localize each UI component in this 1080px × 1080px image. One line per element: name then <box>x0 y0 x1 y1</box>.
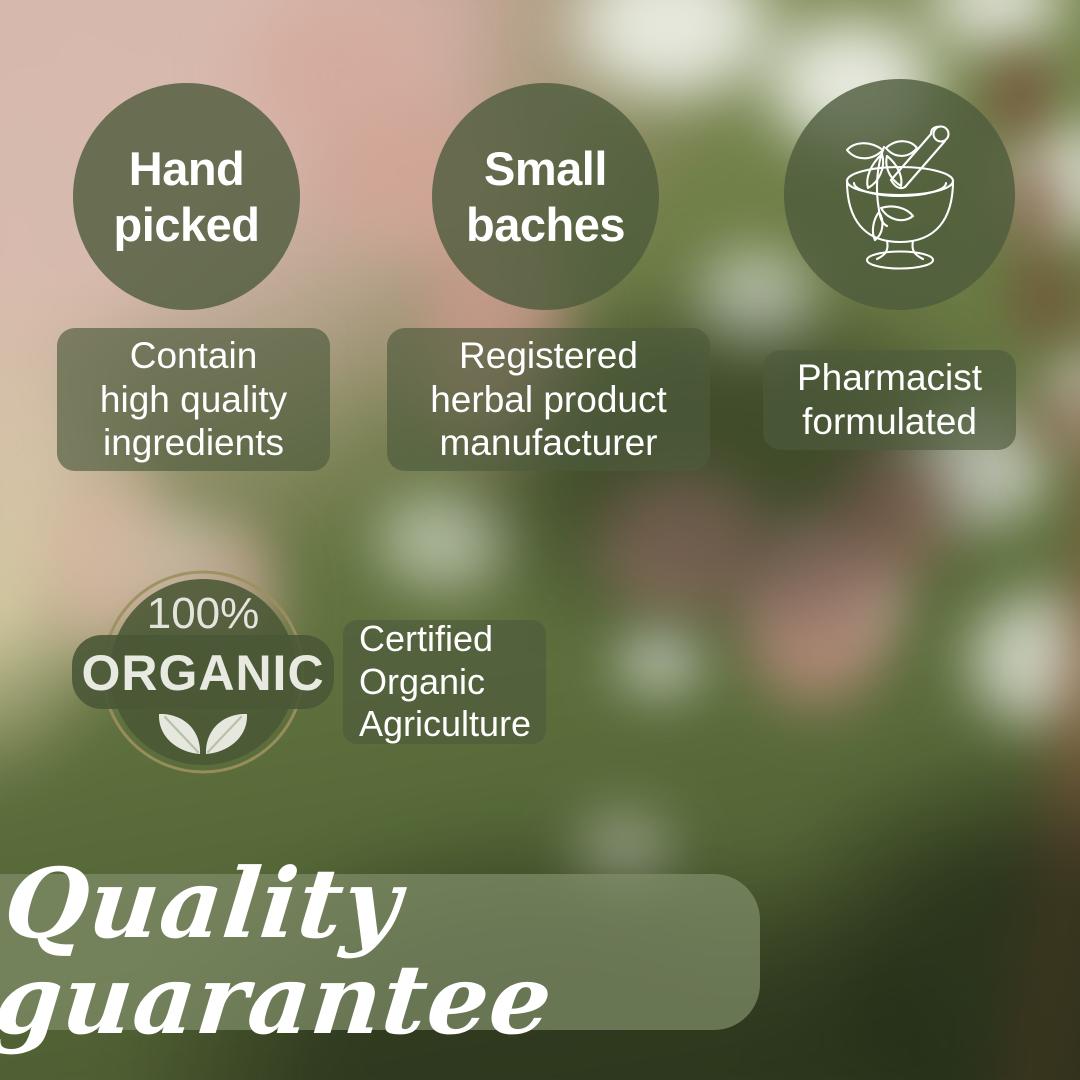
circle-label-small-baches: Small baches <box>466 141 625 252</box>
chip-text: Contain high quality ingredients <box>100 334 287 465</box>
circle-badge-small-baches: Small baches <box>432 83 659 310</box>
circle-badge-mortar-pestle <box>784 79 1015 310</box>
chip-text: Registered herbal product manufacturer <box>430 334 667 465</box>
quality-guarantee-headline: Quality guarantee <box>0 856 770 1048</box>
chip-certified-organic-agriculture: Certified Organic Agriculture <box>343 620 546 744</box>
quality-guarantee-banner: Quality guarantee <box>0 874 760 1030</box>
chip-text: Pharmacist formulated <box>797 356 982 443</box>
organic-percent-text: 100% <box>147 589 260 638</box>
chip-contain-high-quality-ingredients: Contain high quality ingredients <box>57 328 330 471</box>
circle-badge-hand-picked: Hand picked <box>73 83 300 310</box>
organic-word-text: ORGANIC <box>81 645 324 701</box>
quality-guarantee-poster: Hand picked Small baches <box>0 0 1080 1080</box>
chip-pharmacist-formulated: Pharmacist formulated <box>763 350 1016 450</box>
chip-text: Certified Organic Agriculture <box>359 618 531 745</box>
circle-label-hand-picked: Hand picked <box>114 141 260 252</box>
organic-seal-badge: 100% ORGANIC <box>72 566 334 778</box>
mortar-pestle-icon <box>821 120 979 270</box>
chip-registered-herbal-product-manufacturer: Registered herbal product manufacturer <box>387 328 710 471</box>
